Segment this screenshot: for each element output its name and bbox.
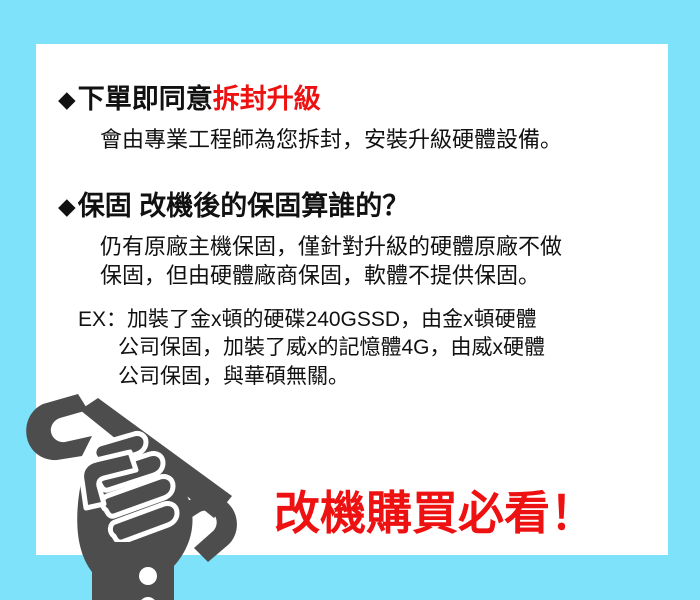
warranty-body-line-1: 仍有原廠主機保固，僅針對升級的硬體原廠不做 — [100, 234, 562, 259]
section-example: EX：加裝了金x頓的硬碟240GSSD，由金x頓硬體 公司保固，加裝了威x的記憶… — [36, 306, 700, 391]
open-upgrade-heading-accent: 拆封升級 — [213, 84, 321, 114]
diamond-bullet-icon: ◆ — [58, 193, 76, 219]
warranty-body: 仍有原廠主機保固，僅針對升級的硬體原廠不做 保固，但由硬體廠商保固，軟體不提供保… — [58, 232, 690, 291]
open-upgrade-body: 會由專業工程師為您拆封，安裝升級硬體設備。 — [58, 125, 690, 154]
callout-headline: 改機購買必看！ — [274, 490, 596, 536]
open-upgrade-heading-plain: 下單即同意 — [78, 84, 213, 114]
example-line-3: 公司保固，與華碩無關。 — [78, 363, 700, 391]
example-line-1: EX：加裝了金x頓的硬碟240GSSD，由金x頓硬體 — [78, 308, 537, 331]
warranty-body-line-2: 保固，但由硬體廠商保固，軟體不提供保固。 — [100, 263, 540, 288]
warranty-heading: ◆保固 改機後的保固算誰的？ — [58, 191, 690, 223]
example-line-2: 公司保固，加裝了威x的記憶體4G，由威x硬體 — [78, 334, 700, 362]
shirt-sleeve — [88, 542, 178, 600]
section-open-upgrade: ◆下單即同意拆封升級 會由專業工程師為您拆封，安裝升級硬體設備。 — [36, 84, 690, 154]
section-warranty: ◆保固 改機後的保固算誰的？ 仍有原廠主機保固，僅針對升級的硬體原廠不做 保固，… — [36, 191, 690, 290]
warranty-heading-text: 保固 改機後的保固算誰的？ — [78, 191, 410, 221]
poster: ◆下單即同意拆封升級 會由專業工程師為您拆封，安裝升級硬體設備。 ◆保固 改機後… — [0, 0, 700, 600]
open-upgrade-heading: ◆下單即同意拆封升級 — [58, 84, 690, 116]
diamond-bullet-icon: ◆ — [58, 86, 76, 112]
